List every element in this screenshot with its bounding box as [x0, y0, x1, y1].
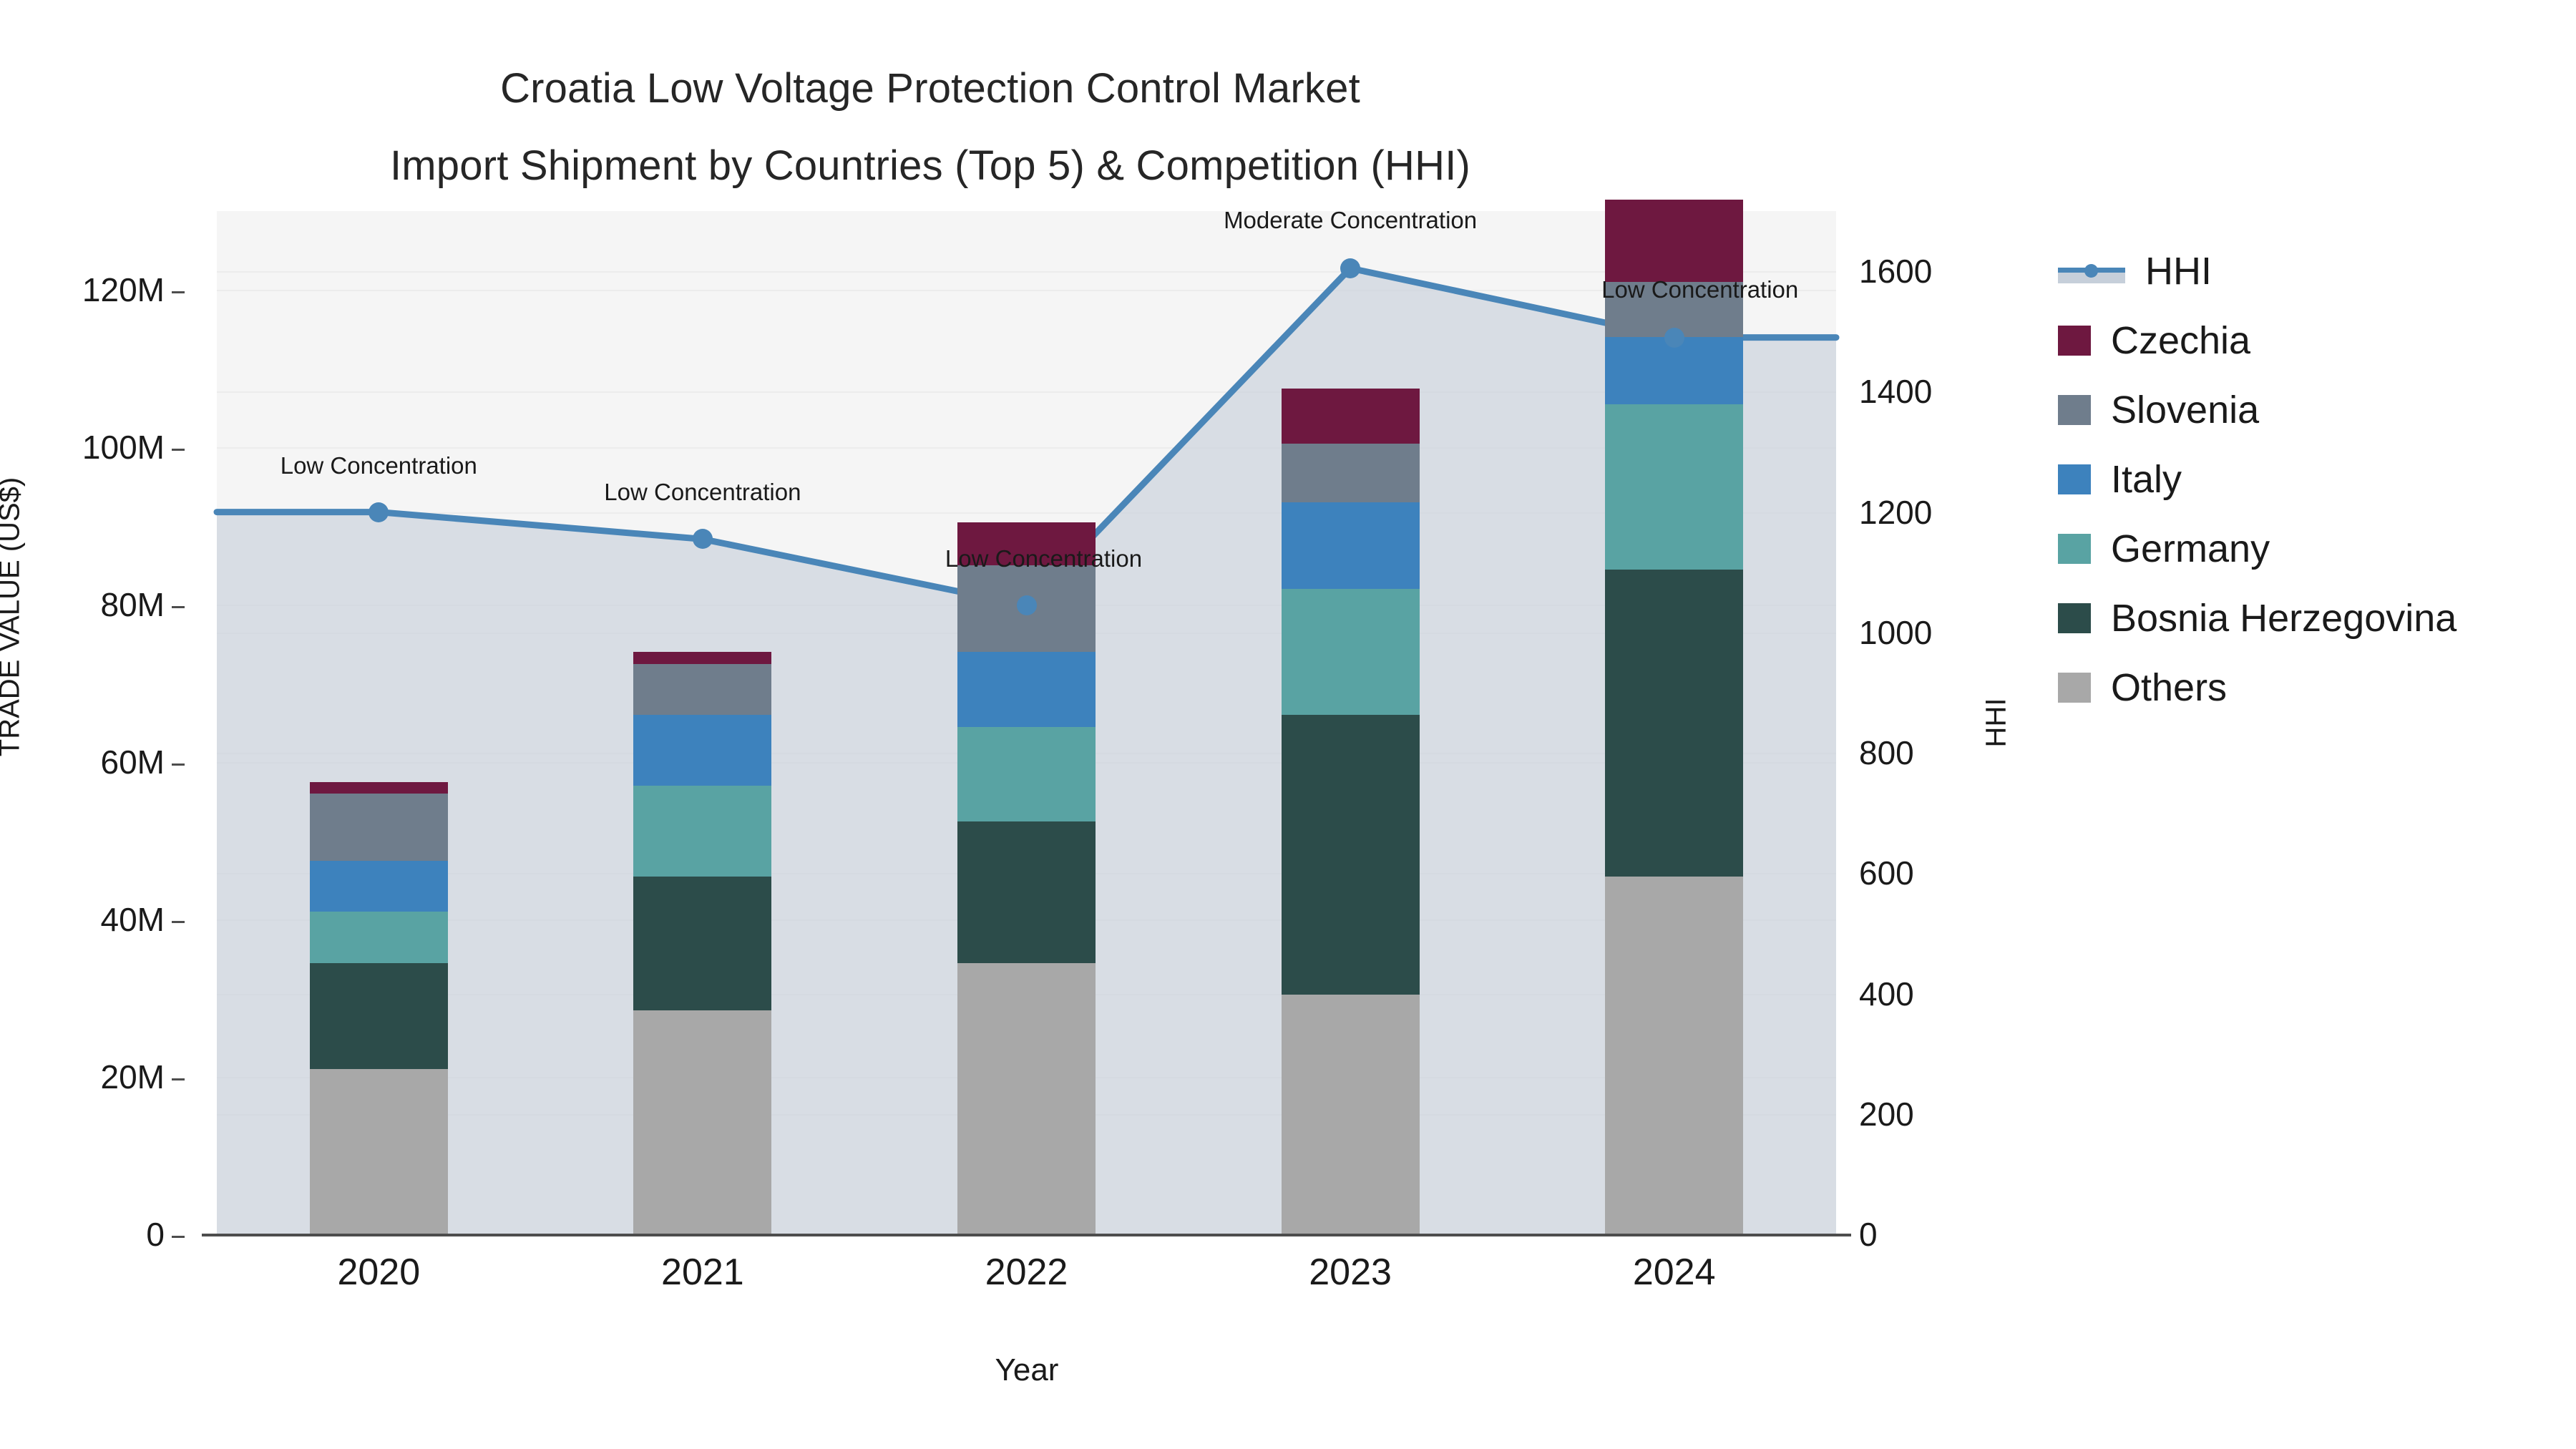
- legend: HHICzechiaSloveniaItalyGermanyBosnia Her…: [2058, 236, 2559, 722]
- annotation-2022: Low Concentration: [945, 545, 1142, 572]
- legend-swatch: [2058, 326, 2091, 356]
- y-right-tick: 1200: [1859, 493, 1932, 532]
- hhi-marker-2023[interactable]: [1340, 258, 1360, 278]
- y-right-tick: 1400: [1859, 372, 1932, 411]
- bar-segment-germany[interactable]: [1282, 589, 1420, 715]
- legend-swatch: [2058, 464, 2091, 494]
- x-axis-line: [202, 1234, 1851, 1236]
- x-tick-2022: 2022: [985, 1251, 1068, 1294]
- legend-item-czechia[interactable]: Czechia: [2058, 306, 2559, 375]
- x-tick-2021: 2021: [661, 1251, 744, 1294]
- y-left-tick: 40M: [101, 900, 185, 939]
- bar-segment-czechia[interactable]: [1605, 200, 1743, 283]
- chart-root: Croatia Low Voltage Protection Control M…: [0, 0, 2576, 1449]
- bar-segment-czechia[interactable]: [633, 652, 771, 664]
- plot-area: Low ConcentrationLow ConcentrationLow Co…: [217, 211, 1836, 1234]
- x-tick-2023: 2023: [1309, 1251, 1392, 1294]
- bar-group-2020[interactable]: [310, 211, 448, 1234]
- title-line-2: Import Shipment by Countries (Top 5) & C…: [0, 127, 1860, 205]
- legend-swatch: [2058, 534, 2091, 564]
- bar-segment-czechia[interactable]: [1282, 389, 1420, 444]
- legend-item-others[interactable]: Others: [2058, 653, 2559, 722]
- y-axis-left-ticks: 020M40M60M80M100M120M: [0, 0, 202, 1449]
- y-left-tick: 100M: [82, 428, 185, 467]
- bar-segment-bosnia-herzegovina[interactable]: [633, 877, 771, 1010]
- y-left-tick: 60M: [101, 743, 185, 781]
- y-right-tick: 600: [1859, 854, 1914, 892]
- x-axis-title: Year: [995, 1352, 1059, 1388]
- bar-segment-germany[interactable]: [633, 786, 771, 877]
- hhi-marker-2020[interactable]: [369, 502, 389, 522]
- bar-segment-germany[interactable]: [957, 727, 1096, 821]
- bar-group-2023[interactable]: [1282, 211, 1420, 1234]
- legend-item-slovenia[interactable]: Slovenia: [2058, 375, 2559, 444]
- y-right-tick: 1600: [1859, 252, 1932, 291]
- y-right-tick: 400: [1859, 975, 1914, 1013]
- bar-segment-slovenia[interactable]: [1282, 444, 1420, 503]
- y-left-tick: 120M: [82, 270, 185, 309]
- title-line-1: Croatia Low Voltage Protection Control M…: [0, 50, 1860, 127]
- bar-segment-others[interactable]: [1282, 995, 1420, 1235]
- y-axis-right-ticks: 02004006008001000120014001600: [1843, 0, 2058, 1449]
- bar-segment-italy[interactable]: [957, 652, 1096, 727]
- legend-swatch: [2058, 395, 2091, 425]
- bar-segment-bosnia-herzegovina[interactable]: [1605, 570, 1743, 877]
- legend-item-bosnia-herzegovina[interactable]: Bosnia Herzegovina: [2058, 583, 2559, 653]
- bar-segment-bosnia-herzegovina[interactable]: [1282, 715, 1420, 995]
- legend-label: Germany: [2111, 527, 2270, 571]
- x-tick-2020: 2020: [337, 1251, 420, 1294]
- bar-segment-slovenia[interactable]: [633, 664, 771, 716]
- legend-swatch: [2058, 603, 2091, 633]
- bar-segment-others[interactable]: [633, 1010, 771, 1235]
- y-right-tick: 0: [1859, 1215, 1878, 1254]
- bar-segment-others[interactable]: [1605, 877, 1743, 1235]
- legend-label: Italy: [2111, 457, 2182, 502]
- bar-segment-italy[interactable]: [633, 715, 771, 786]
- legend-swatch: [2058, 673, 2091, 703]
- bar-segment-germany[interactable]: [310, 912, 448, 963]
- y-left-tick: 0: [146, 1215, 185, 1254]
- legend-item-germany[interactable]: Germany: [2058, 514, 2559, 583]
- chart-title: Croatia Low Voltage Protection Control M…: [0, 50, 1860, 205]
- legend-item-hhi[interactable]: HHI: [2058, 236, 2559, 306]
- bar-segment-others[interactable]: [957, 963, 1096, 1235]
- bar-segment-others[interactable]: [310, 1069, 448, 1234]
- y-axis-left-title: TRADE VALUE (US$): [0, 477, 26, 756]
- hhi-marker-2024[interactable]: [1664, 328, 1684, 348]
- annotation-2021: Low Concentration: [604, 479, 801, 506]
- bar-segment-bosnia-herzegovina[interactable]: [310, 963, 448, 1070]
- legend-label: HHI: [2145, 249, 2212, 293]
- legend-item-italy[interactable]: Italy: [2058, 444, 2559, 514]
- bar-group-2022[interactable]: [957, 211, 1096, 1234]
- legend-label: Others: [2111, 665, 2227, 710]
- hhi-marker-2022[interactable]: [1017, 595, 1037, 615]
- y-right-tick: 200: [1859, 1095, 1914, 1133]
- y-right-tick: 1000: [1859, 613, 1932, 652]
- legend-label: Slovenia: [2111, 388, 2259, 432]
- annotation-2023: Moderate Concentration: [1224, 207, 1477, 234]
- bar-group-2021[interactable]: [633, 211, 771, 1234]
- bar-segment-italy[interactable]: [310, 861, 448, 912]
- legend-line-marker: [2058, 256, 2125, 286]
- y-left-tick: 20M: [101, 1058, 185, 1096]
- bar-segment-italy[interactable]: [1282, 502, 1420, 589]
- legend-label: Czechia: [2111, 318, 2250, 363]
- bar-segment-slovenia[interactable]: [310, 794, 448, 861]
- bar-group-2024[interactable]: [1605, 211, 1743, 1234]
- bar-segment-bosnia-herzegovina[interactable]: [957, 821, 1096, 963]
- bar-segment-germany[interactable]: [1605, 404, 1743, 570]
- y-left-tick: 80M: [101, 585, 185, 624]
- annotation-2020: Low Concentration: [280, 452, 477, 479]
- legend-label: Bosnia Herzegovina: [2111, 596, 2457, 640]
- y-right-tick: 800: [1859, 733, 1914, 772]
- x-tick-2024: 2024: [1633, 1251, 1716, 1294]
- annotation-2024: Low Concentration: [1601, 276, 1798, 303]
- bar-segment-czechia[interactable]: [310, 782, 448, 794]
- y-axis-right-title: HHI: [1981, 698, 2013, 748]
